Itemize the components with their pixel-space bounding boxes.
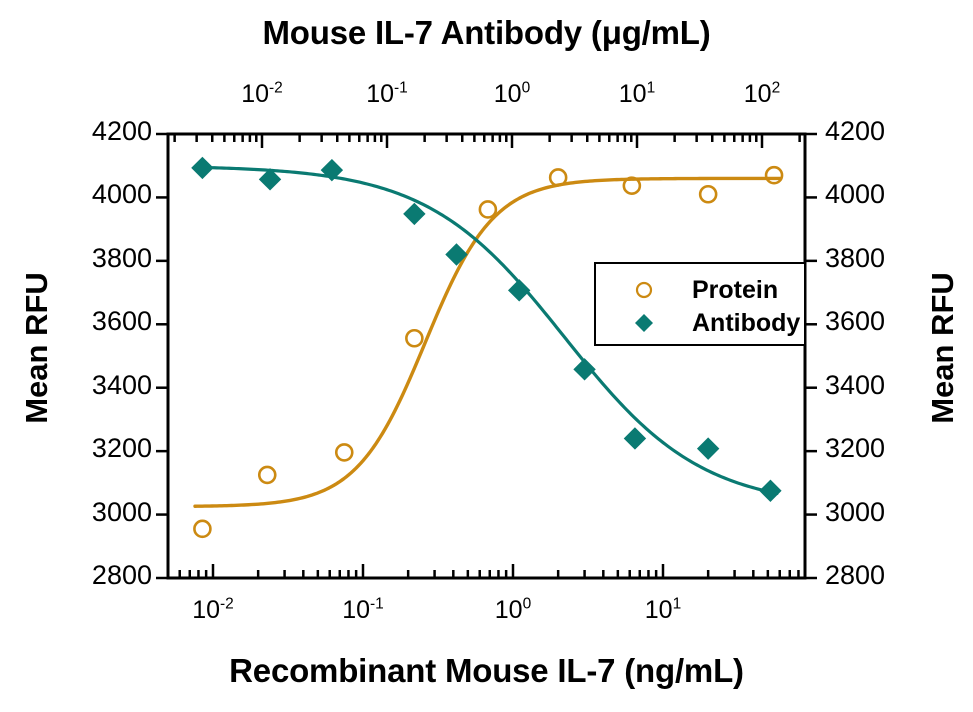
- x-tick-label-top: 10-2: [228, 80, 296, 109]
- tick-mantissa: 10: [494, 80, 522, 108]
- tick-exponent: 1: [673, 596, 682, 613]
- y-tick-label-right: 4200: [825, 116, 917, 147]
- protein-data-point: [766, 167, 782, 183]
- y-tick-label-right: 3200: [825, 433, 917, 464]
- y-tick-label-left: 2800: [60, 560, 152, 591]
- tick-exponent: -1: [370, 596, 384, 613]
- tick-exponent: 2: [772, 80, 781, 97]
- x-tick-label-bottom: 100: [479, 596, 547, 625]
- legend-item-label: Protein: [692, 276, 778, 305]
- tick-mantissa: 10: [645, 596, 673, 624]
- tick-mantissa: 10: [619, 80, 647, 108]
- antibody-data-point: [404, 203, 425, 224]
- x-tick-label-bottom: 10-1: [329, 596, 397, 625]
- y-tick-label-left: 3600: [60, 306, 152, 337]
- legend-open-circle-icon: [596, 277, 692, 303]
- tick-mantissa: 10: [192, 596, 220, 624]
- tick-exponent: -1: [394, 80, 408, 97]
- x-tick-label-top: 100: [478, 80, 546, 109]
- x-tick-label-bottom: 10-2: [179, 596, 247, 625]
- legend: ProteinAntibody: [594, 262, 806, 346]
- y-tick-label-right: 3000: [825, 497, 917, 528]
- antibody-data-point: [760, 480, 781, 501]
- x-tick-label-top: 101: [603, 80, 671, 109]
- x-tick-label-bottom: 101: [629, 596, 697, 625]
- tick-exponent: 0: [522, 80, 531, 97]
- y-tick-label-left: 3200: [60, 433, 152, 464]
- data-markers: [192, 157, 782, 536]
- tick-mantissa: 10: [366, 80, 394, 108]
- protein-data-point: [336, 444, 352, 460]
- antibody-data-point: [624, 428, 645, 449]
- legend-item[interactable]: Antibody: [596, 307, 808, 339]
- protein-data-point: [700, 186, 716, 202]
- tick-exponent: 0: [523, 596, 532, 613]
- y-tick-label-right: 4000: [825, 179, 917, 210]
- protein-data-point: [480, 201, 496, 217]
- y-tick-label-left: 3000: [60, 497, 152, 528]
- tick-mantissa: 10: [241, 80, 269, 108]
- antibody-data-point: [509, 280, 530, 301]
- tick-mantissa: 10: [744, 80, 772, 108]
- antibody-data-point: [574, 359, 595, 380]
- tick-exponent: -2: [220, 596, 234, 613]
- x-tick-label-top: 10-1: [353, 80, 421, 109]
- y-tick-label-left: 3800: [60, 243, 152, 274]
- protein-data-point: [259, 467, 275, 483]
- y-tick-label-left: 3400: [60, 370, 152, 401]
- tick-exponent: -2: [269, 80, 283, 97]
- protein-data-point: [406, 330, 422, 346]
- y-tick-label-left: 4200: [60, 116, 152, 147]
- tick-mantissa: 10: [495, 596, 523, 624]
- chart-figure: Mouse IL-7 Antibody (μg/mL) Recombinant …: [0, 0, 973, 712]
- legend-item-label: Antibody: [692, 309, 800, 338]
- protein-data-point: [550, 169, 566, 185]
- y-tick-label-left: 4000: [60, 179, 152, 210]
- protein-data-point: [194, 521, 210, 537]
- antibody-data-point: [698, 438, 719, 459]
- y-tick-label-right: 3800: [825, 243, 917, 274]
- y-tick-label-right: 2800: [825, 560, 917, 591]
- antibody-data-point: [192, 157, 213, 178]
- tick-exponent: 1: [647, 80, 656, 97]
- tick-mantissa: 10: [342, 596, 370, 624]
- y-tick-label-right: 3400: [825, 370, 917, 401]
- y-tick-label-right: 3600: [825, 306, 917, 337]
- x-tick-label-top: 102: [728, 80, 796, 109]
- legend-item[interactable]: Protein: [596, 274, 808, 306]
- legend-filled-diamond-icon: [596, 310, 692, 336]
